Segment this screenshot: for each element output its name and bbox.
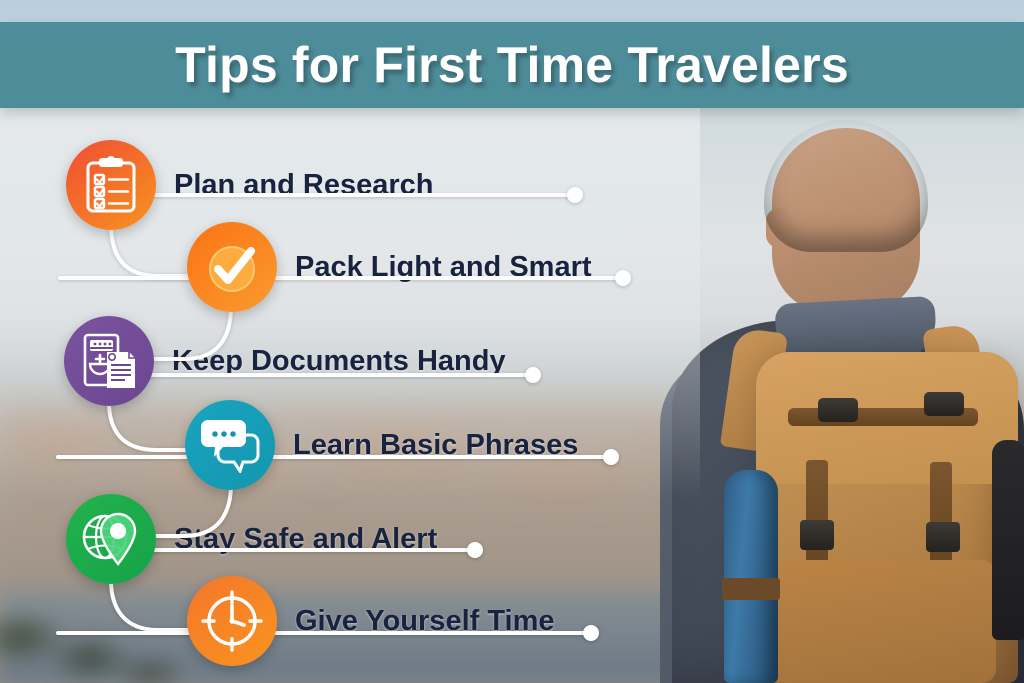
- mat-strap: [722, 578, 780, 600]
- tip-rule-1: [112, 193, 580, 197]
- tip-dot-3: [525, 367, 541, 383]
- backpack-front-pocket: [768, 560, 996, 683]
- backpack-buckle-top-right: [924, 392, 964, 416]
- tip-rule-4: [56, 455, 616, 459]
- tip-item-stay-safe-and-alert[interactable]: Stay Safe and Alert: [66, 494, 437, 584]
- tip-item-give-yourself-time[interactable]: Give Yourself Time: [187, 576, 555, 666]
- rolled-sleeping-mat: [724, 470, 778, 683]
- tip-dot-1: [567, 187, 583, 203]
- tip-item-keep-documents-handy[interactable]: Keep Documents Handy: [64, 316, 506, 406]
- tip-dot-5: [467, 542, 483, 558]
- title-banner: Tips for First Time Travelers: [0, 22, 1024, 108]
- clipboard-checklist-icon: [66, 140, 156, 230]
- backpack-buckle-right: [926, 522, 960, 552]
- page-title: Tips for First Time Travelers: [175, 36, 849, 94]
- speech-bubbles-icon: [185, 400, 275, 490]
- tip-rule-5: [112, 548, 480, 552]
- clock-icon: [187, 576, 277, 666]
- tip-dot-2: [615, 270, 631, 286]
- tip-dot-4: [603, 449, 619, 465]
- backpack-buckle-top-left: [818, 398, 858, 422]
- backpack-buckle-left: [800, 520, 834, 550]
- check-circle-icon: [187, 222, 277, 312]
- tip-rule-3: [110, 373, 538, 377]
- tip-item-learn-basic-phrases[interactable]: Learn Basic Phrases: [185, 400, 578, 490]
- water-bottle: [992, 440, 1024, 640]
- tip-item-pack-light-and-smart[interactable]: Pack Light and Smart: [187, 222, 592, 312]
- tip-dot-6: [583, 625, 599, 641]
- travel-tips-infographic: Tips for First Time Travelers: [0, 0, 1024, 683]
- passport-documents-icon: [64, 316, 154, 406]
- tip-item-plan-and-research[interactable]: Plan and Research: [66, 140, 434, 230]
- globe-location-pin-icon: [66, 494, 156, 584]
- tip-rule-6: [56, 631, 596, 635]
- tip-rule-2: [58, 276, 628, 280]
